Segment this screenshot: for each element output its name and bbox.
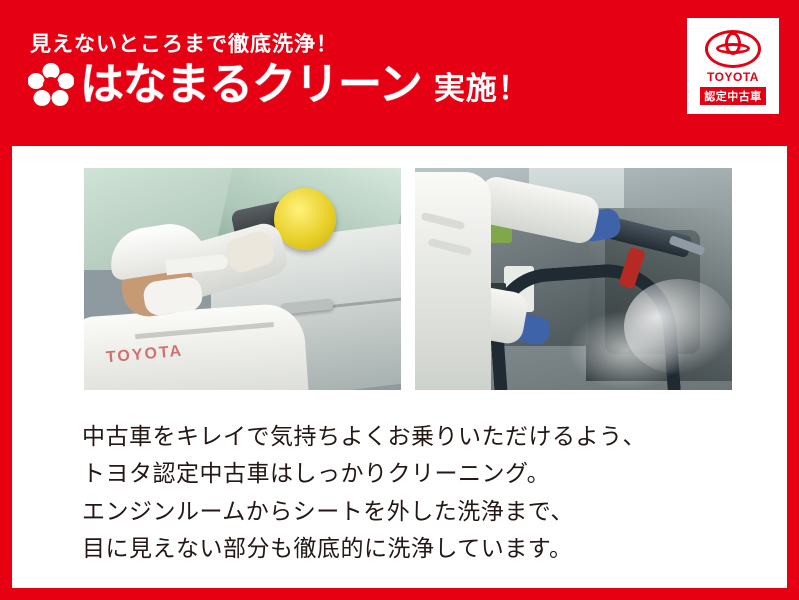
caption-block: 中古車をキレイで気持ちよくお乗りいただけるよう、 トヨタ認定中古車はしっかりクリ… (82, 418, 646, 567)
caption-line-1: 中古車をキレイで気持ちよくお乗りいただけるよう、 (82, 418, 646, 455)
headline-suffix: 実施！ (434, 63, 530, 108)
caption-line-4: 目に見えない部分も徹底的に洗浄しています。 (82, 530, 646, 567)
certified-used-car-label: 認定中古車 (700, 87, 766, 105)
flower-icon (28, 62, 74, 108)
header-tagline: 見えないところまで徹底洗浄！ (30, 28, 338, 58)
headline-row: はなまるクリーン 実施！ (28, 62, 530, 108)
toyota-ellipse-logo-icon (705, 30, 761, 68)
caption-line-2: トヨタ認定中古車はしっかりクリーニング。 (82, 455, 646, 492)
toyota-wordmark: TOYOTA (707, 70, 759, 84)
content-panel: TOYOTA (12, 146, 787, 588)
photo-polishing: TOYOTA (84, 168, 401, 390)
headline-main: はなまるクリーン (80, 63, 422, 107)
photo-steam-cleaning (415, 168, 732, 390)
toyota-certified-logo: TOYOTA 認定中古車 (687, 18, 779, 114)
promo-page: 見えないところまで徹底洗浄！ はなまるクリーン 実施！ (0, 0, 799, 600)
photo-gallery: TOYOTA (84, 168, 732, 390)
header-banner: 見えないところまで徹底洗浄！ はなまるクリーン 実施！ (0, 0, 799, 140)
caption-line-3: エンジンルームからシートを外した洗浄まで、 (82, 493, 646, 530)
